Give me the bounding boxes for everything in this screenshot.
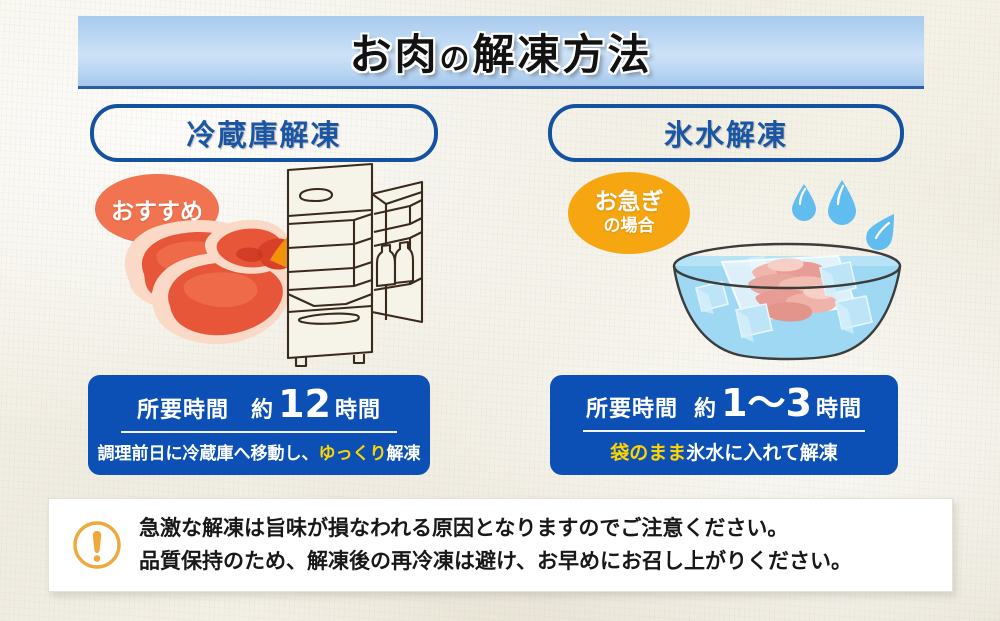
- info-fridge-note-plain2: 解凍: [387, 444, 421, 464]
- meat-illustration: [125, 220, 296, 344]
- info-fridge-duration-unit: 時間: [335, 392, 381, 424]
- info-icewater-note-highlight: 袋のまま: [610, 442, 686, 464]
- exclamation-circle-icon: [71, 519, 123, 571]
- info-icewater-duration-prefix: 約: [694, 391, 717, 423]
- page-title-part1: お肉: [349, 30, 439, 79]
- info-box-fridge: 所要時間 約12時間 調理前日に冷蔵庫へ移動し、ゆっくり解凍: [88, 375, 430, 475]
- infographic-root: お肉の解凍方法 冷蔵庫解凍 氷水解凍 おすすめ お急ぎ の場合: [0, 0, 1000, 621]
- info-fridge-duration-label: 所要時間: [137, 392, 229, 424]
- illustration-ice-water-bowl: [660, 170, 930, 370]
- info-icewater-duration: 所要時間 約1〜3時間: [586, 386, 862, 423]
- info-icewater-divider: [583, 430, 865, 432]
- info-fridge-note-plain1: 調理前日に冷蔵庫へ移動し、: [98, 444, 319, 464]
- notice-line-1: 急激な解凍は旨味が損なわれる原因となりますのでご注意ください。: [139, 512, 852, 545]
- info-icewater-note-plain2: 氷水に入れて解凍: [686, 442, 837, 464]
- info-icewater-duration-unit: 時間: [816, 391, 862, 423]
- info-icewater-note: 袋のまま氷水に入れて解凍: [610, 438, 837, 465]
- page-title: お肉の解凍方法: [349, 21, 652, 82]
- header-banner: お肉の解凍方法: [78, 16, 924, 89]
- method-pill-icewater[interactable]: 氷水解凍: [548, 104, 904, 162]
- water-droplet-icon: [792, 180, 894, 250]
- info-icewater-duration-value: 1〜3: [721, 386, 812, 420]
- badge-hurry-line1: お急ぎ: [595, 189, 664, 215]
- badge-hurry-line2: の場合: [604, 215, 655, 237]
- info-fridge-duration-value: 12: [278, 387, 331, 421]
- info-box-icewater: 所要時間 約1〜3時間 袋のまま氷水に入れて解凍: [550, 375, 898, 475]
- info-fridge-note-highlight: ゆっくり: [319, 444, 387, 464]
- info-fridge-duration-prefix: 約: [251, 392, 274, 424]
- method-pill-icewater-label: 氷水解凍: [664, 112, 788, 154]
- notice-box: 急激な解凍は旨味が損なわれる原因となりますのでご注意ください。 品質保持のため、…: [48, 498, 953, 592]
- page-title-particle: の: [440, 42, 473, 77]
- notice-text-block: 急激な解凍は旨味が損なわれる原因となりますのでご注意ください。 品質保持のため、…: [139, 512, 852, 578]
- page-title-part2: 解凍方法: [473, 30, 653, 79]
- info-fridge-divider: [121, 431, 398, 433]
- info-fridge-duration: 所要時間 約12時間: [137, 387, 381, 424]
- method-pill-fridge-label: 冷蔵庫解凍: [186, 112, 341, 154]
- refrigerator-icon: [288, 164, 422, 366]
- info-fridge-note: 調理前日に冷蔵庫へ移動し、ゆっくり解凍: [98, 439, 421, 464]
- notice-line-2: 品質保持のため、解凍後の再冷凍は避け、お早めにお召し上がりください。: [139, 545, 852, 578]
- method-pill-fridge[interactable]: 冷蔵庫解凍: [90, 104, 438, 162]
- info-icewater-duration-label: 所要時間: [586, 391, 678, 423]
- illustration-refrigerator: [110, 160, 440, 375]
